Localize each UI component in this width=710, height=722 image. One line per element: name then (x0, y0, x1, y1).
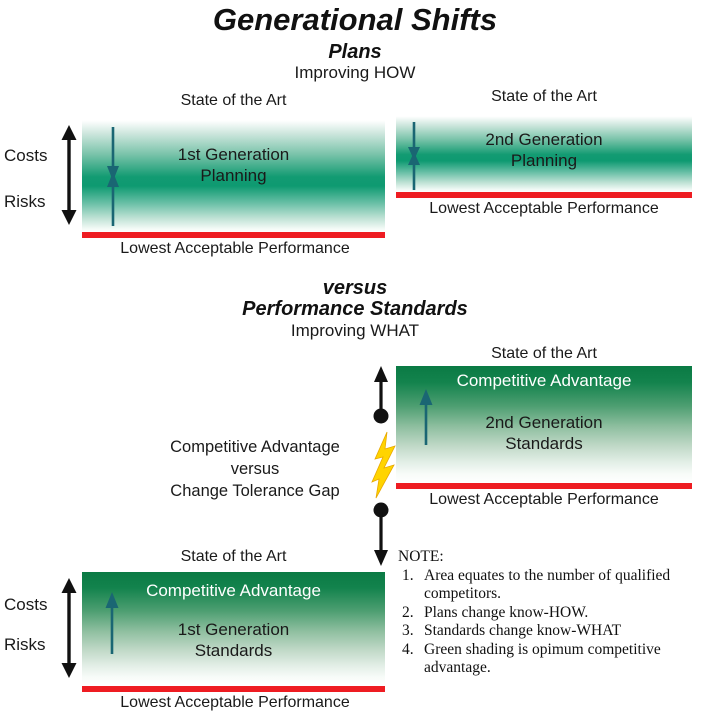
gap-lower-arrow (370, 502, 392, 566)
note-item-number: 3. (402, 622, 422, 641)
note-block: NOTE: 1. Area equates to the number of q… (398, 548, 706, 678)
standards-gen1-box-line2: Standards (82, 640, 385, 661)
plans-section-subtitle: Improving HOW (0, 63, 710, 83)
plans-gen1-risks-label: Risks (4, 192, 46, 212)
plans-gen1-costs-risks-double-arrow (58, 125, 80, 225)
standards-gen2-lowest-acceptable-label: Lowest Acceptable Performance (380, 491, 708, 509)
note-item-number: 2. (402, 604, 422, 623)
lightning-bolt-icon (372, 432, 398, 498)
gap-annotation-line1: Competitive Advantage (150, 436, 360, 458)
gap-upper-arrow (370, 366, 392, 424)
standards-gen2-box-line2: Standards (396, 433, 692, 454)
diagram-canvas: Generational Shifts Plans Improving HOW … (0, 0, 710, 722)
standards-gen2-box-label: 2nd Generation Standards (396, 412, 692, 454)
gap-annotation: Competitive Advantage versus Change Tole… (150, 436, 360, 502)
plans-gen2-box-label: 2nd Generation Planning (396, 129, 692, 171)
note-item: 3. Standards change know-WHAT (398, 622, 706, 641)
plans-gen1-box-line1: 1st Generation (82, 144, 385, 165)
standards-gen1-box-line1: 1st Generation (82, 619, 385, 640)
plans-gen1-state-of-the-art-label: State of the Art (82, 92, 385, 110)
note-item-number: 1. (402, 567, 422, 586)
plans-gen2-risks-up-arrow (406, 152, 422, 190)
note-item-text: Standards change know-WHAT (424, 622, 621, 639)
standards-gen1-lowest-acceptable-line (82, 686, 385, 692)
plans-gen1-costs-label: Costs (4, 146, 47, 166)
plans-gen2-state-of-the-art-label: State of the Art (396, 88, 692, 106)
plans-gen2-box-line2: Planning (396, 150, 692, 171)
plans-gen2-lowest-acceptable-line (396, 192, 692, 198)
note-item-number: 4. (402, 641, 422, 660)
standards-gen1-costs-label: Costs (4, 595, 47, 615)
note-list: 1. Area equates to the number of qualifi… (398, 567, 706, 678)
note-item: 4. Green shading is opimum competitive a… (398, 641, 706, 678)
plans-gen1-lowest-acceptable-line (82, 232, 385, 238)
standards-gen2-advantage-up-arrow (418, 389, 434, 445)
standards-gen2-state-of-the-art-label: State of the Art (396, 345, 692, 363)
plans-gen2-lowest-acceptable-label: Lowest Acceptable Performance (380, 200, 708, 218)
standards-section-title: Performance Standards (0, 298, 710, 321)
plans-gen1-risks-up-arrow (105, 172, 121, 226)
standards-gen2-lowest-acceptable-line (396, 483, 692, 489)
standards-gen1-box-label: 1st Generation Standards (82, 619, 385, 661)
plans-gen2-box-line1: 2nd Generation (396, 129, 692, 150)
standards-gen1-lowest-acceptable-label: Lowest Acceptable Performance (60, 694, 410, 712)
page-title: Generational Shifts (0, 2, 710, 38)
note-item: 2. Plans change know-HOW. (398, 604, 706, 623)
gap-annotation-line2: versus (150, 458, 360, 480)
gap-annotation-line3: Change Tolerance Gap (150, 480, 360, 502)
versus-label: versus (0, 277, 710, 300)
standards-gen1-advantage-up-arrow (104, 592, 120, 654)
plans-gen1-box-line2: Planning (82, 165, 385, 186)
standards-gen1-state-of-the-art-label: State of the Art (82, 548, 385, 566)
standards-section-subtitle: Improving WHAT (0, 321, 710, 341)
note-item-text: Plans change know-HOW. (424, 604, 588, 621)
plans-gen1-box-label: 1st Generation Planning (82, 144, 385, 186)
note-item-text: Area equates to the number of qualified … (424, 567, 670, 603)
note-item-text: Green shading is opimum competitive adva… (424, 641, 661, 677)
plans-gen1-lowest-acceptable-label: Lowest Acceptable Performance (60, 240, 410, 258)
plans-section-title: Plans (0, 41, 710, 64)
standards-gen2-box-line1: 2nd Generation (396, 412, 692, 433)
standards-gen1-costs-risks-double-arrow (58, 578, 80, 678)
standards-gen1-risks-label: Risks (4, 635, 46, 655)
note-item: 1. Area equates to the number of qualifi… (398, 567, 706, 604)
standards-gen1-headline: Competitive Advantage (82, 580, 385, 601)
note-title: NOTE: (398, 548, 706, 567)
standards-gen2-headline: Competitive Advantage (396, 370, 692, 391)
